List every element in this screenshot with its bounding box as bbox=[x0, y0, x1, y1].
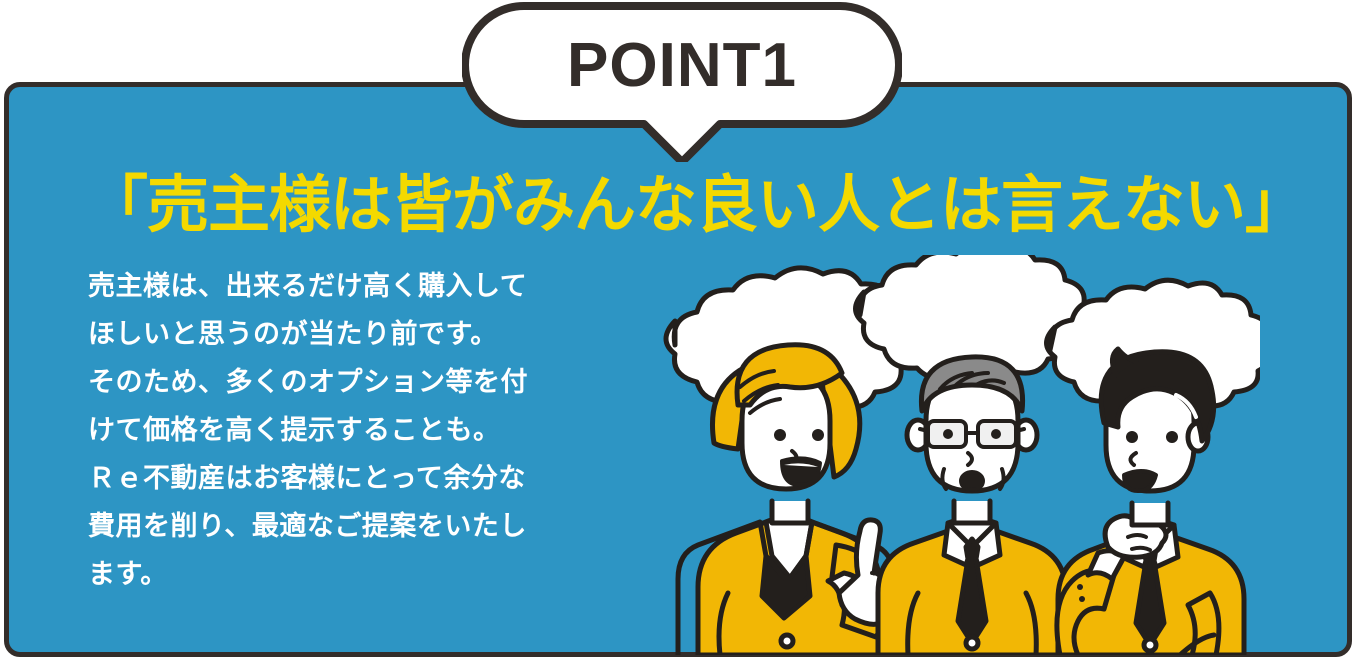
body-line: 費用を削り、最適なご提案をいたし bbox=[88, 502, 608, 550]
point-badge: POINT1 bbox=[462, 2, 902, 162]
body-line: Ｒｅ不動産はお客様にとって余分な bbox=[88, 454, 608, 502]
body-line: 売主様は、出来るだけ高く購入して bbox=[88, 262, 608, 310]
point-callout-card: POINT1 「売主様は皆がみんな良い人とは言えない」 売主様は、出来るだけ高く… bbox=[0, 0, 1359, 661]
body-line: ほしいと思うのが当たり前です。 bbox=[88, 310, 608, 358]
headline: 「売主様は皆がみんな良い人とは言えない」 bbox=[86, 175, 1296, 237]
body-copy: 売主様は、出来るだけ高く購入して ほしいと思うのが当たり前です。 そのため、多く… bbox=[88, 262, 608, 598]
body-line: そのため、多くのオプション等を付 bbox=[88, 358, 608, 406]
body-line: ます。 bbox=[88, 550, 608, 598]
people-illustration bbox=[620, 255, 1260, 655]
badge-bubble-shape bbox=[462, 2, 902, 162]
figure-senior-man bbox=[878, 357, 1066, 655]
body-line: けて価格を高く提示することも。 bbox=[88, 406, 608, 454]
